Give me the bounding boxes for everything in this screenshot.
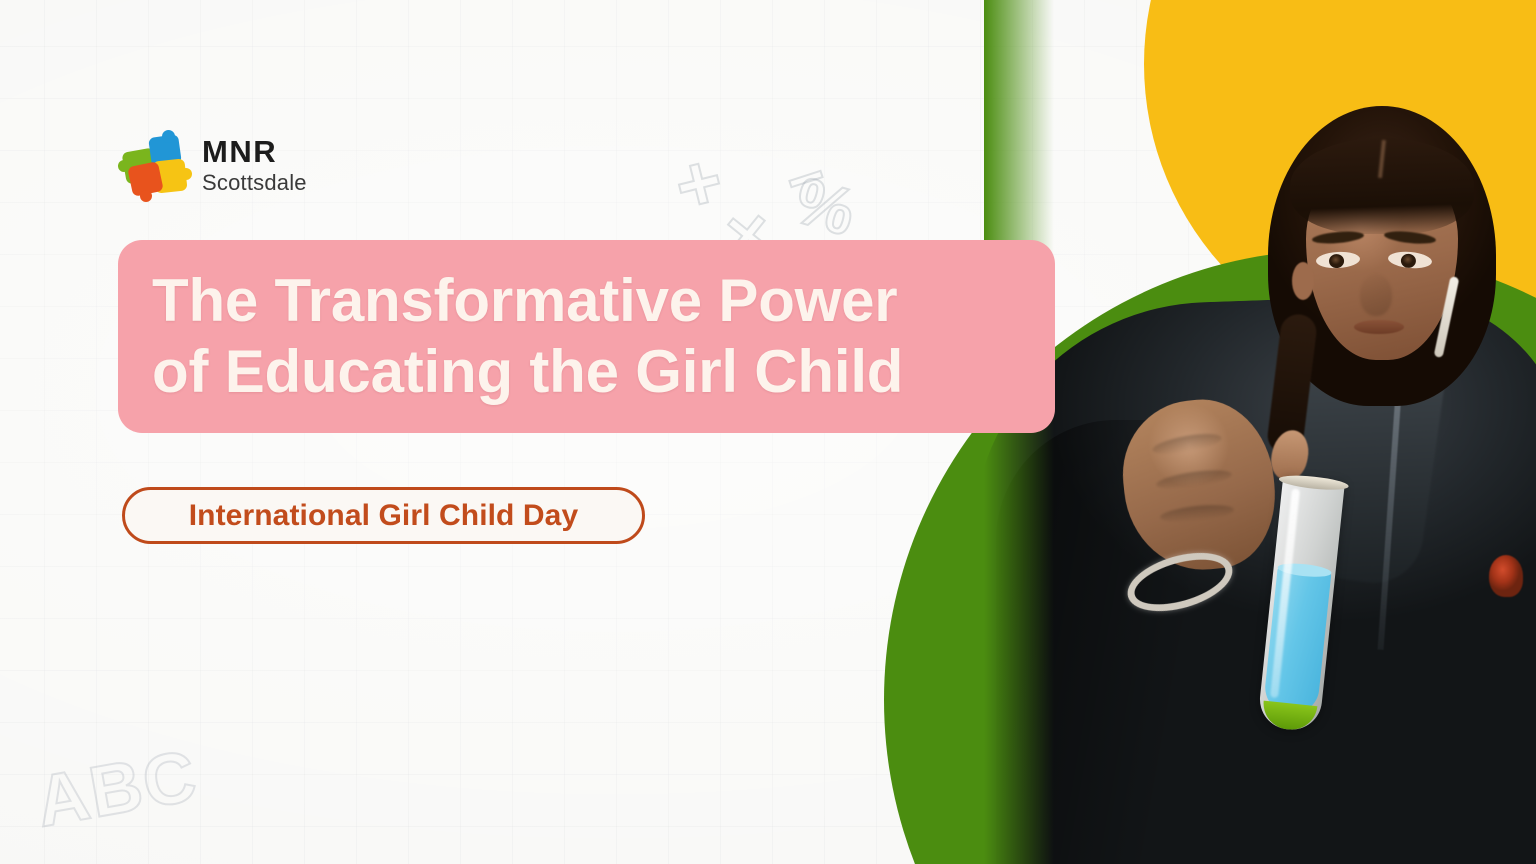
test-tube-base	[1261, 701, 1317, 733]
lips	[1354, 320, 1404, 334]
pupil-right	[1400, 253, 1416, 268]
subtitle-pill[interactable]: International Girl Child Day	[122, 487, 645, 544]
percent-sign-doodle-icon: %	[787, 161, 864, 250]
puzzle-pieces-icon	[122, 134, 188, 196]
puzzle-nub-yellow	[180, 168, 192, 180]
brand-logo[interactable]: MNR Scottsdale	[122, 134, 307, 196]
nose	[1360, 274, 1392, 316]
brand-name: MNR	[202, 136, 307, 167]
minus-sign-doodle-icon: –	[775, 132, 833, 216]
subtitle-label: International Girl Child Day	[189, 499, 579, 533]
student-photo	[984, 0, 1536, 864]
headline-panel: The Transformative Power of Educating th…	[118, 240, 1055, 433]
puzzle-nub-green	[118, 160, 130, 172]
jacket-logo-patch	[1489, 555, 1523, 597]
headline-line-2: of Educating the Girl Child	[152, 337, 1021, 407]
brand-location: Scottsdale	[202, 172, 307, 194]
student-head	[1284, 124, 1480, 374]
pupil-left	[1329, 254, 1345, 269]
headline-line-1: The Transformative Power	[152, 266, 1021, 336]
puzzle-nub-orange	[140, 190, 152, 202]
puzzle-nub-blue	[162, 130, 175, 143]
ear	[1292, 262, 1314, 300]
poster-canvas: + – % × ABC MNR Scottsdale The Transform…	[0, 0, 1536, 864]
plus-sign-doodle-icon: +	[666, 134, 732, 233]
student-photo-content	[984, 0, 1536, 864]
brand-wordmark: MNR Scottsdale	[202, 136, 307, 194]
abc-letters-doodle-icon: ABC	[30, 735, 204, 844]
